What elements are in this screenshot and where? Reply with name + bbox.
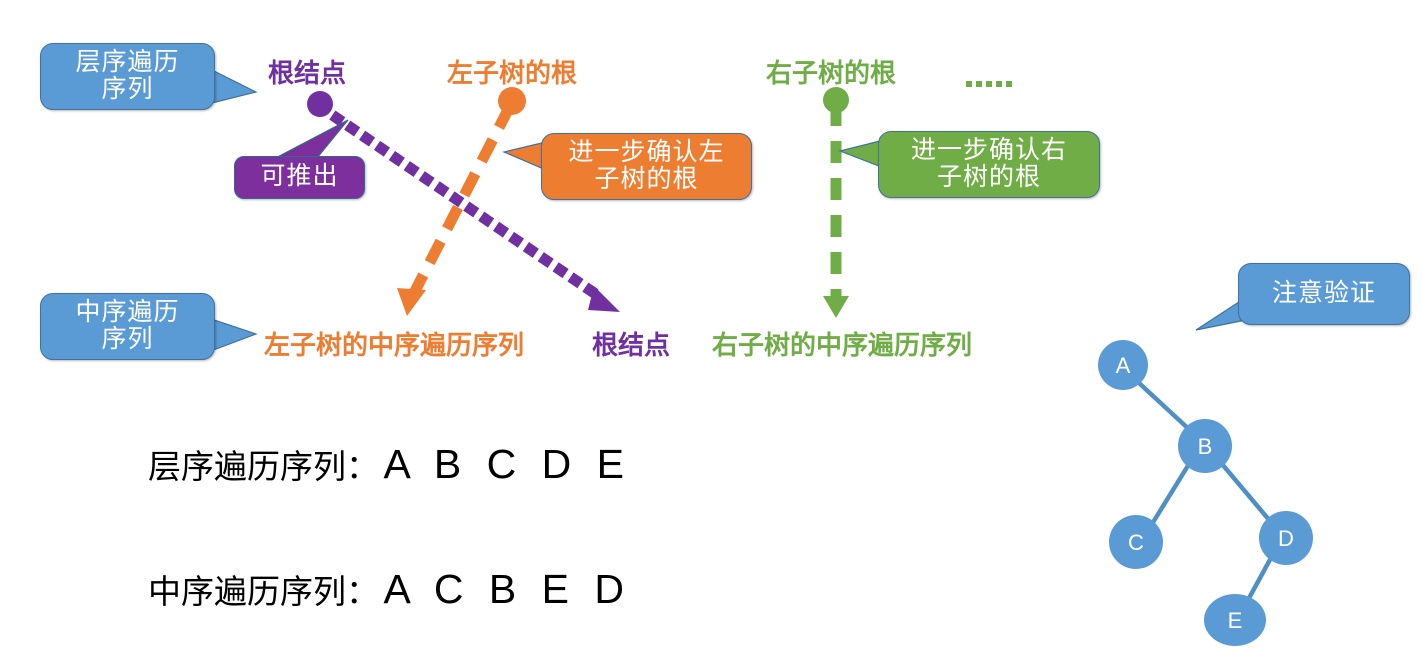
tree-edge-b-c bbox=[1152, 464, 1189, 524]
callout-verify: 注意验证 bbox=[1238, 263, 1410, 325]
tree-edge-a-b bbox=[1138, 382, 1192, 432]
sequence-prefix-level-order: 层序遍历序列： bbox=[148, 450, 379, 486]
diagram-canvas: 层序遍历 序列 中序遍历 序列 可推出 进一步确认左 子树的根 进一步确认右 子… bbox=[0, 0, 1422, 662]
sequence-line-inorder: 中序遍历序列： A C B E D bbox=[148, 565, 631, 613]
sequence-prefix-inorder: 中序遍历序列： bbox=[148, 575, 379, 611]
callout-level-order-line1: 层序遍历 bbox=[75, 50, 179, 77]
callout-deducible-line1: 可推出 bbox=[260, 164, 338, 191]
ellipsis-dots-icon bbox=[966, 81, 1012, 87]
label-right-subtree-root: 右子树的根 bbox=[766, 53, 896, 90]
purple-dotted-arrow bbox=[307, 91, 620, 312]
callout-confirm-left-line2: 子树的根 bbox=[594, 167, 698, 194]
sequence-letters-level-order: A B C D E bbox=[383, 441, 631, 487]
bubble-tail-inorder bbox=[208, 318, 256, 352]
tree-edge-d-e bbox=[1248, 556, 1272, 600]
callout-inorder-line2: 序列 bbox=[101, 327, 153, 354]
bubble-tail-confirm-left bbox=[504, 142, 546, 170]
callout-inorder-label: 中序遍历 序列 bbox=[40, 293, 215, 360]
tree-edges bbox=[1138, 382, 1272, 600]
tree-edge-b-d bbox=[1222, 464, 1270, 521]
callout-confirm-right: 进一步确认右 子树的根 bbox=[878, 131, 1100, 198]
tree-node-b bbox=[1178, 419, 1232, 473]
label-left-subtree-root: 左子树的根 bbox=[447, 53, 577, 90]
label-right-inorder-seq: 右子树的中序遍历序列 bbox=[712, 325, 972, 362]
sequence-letters-inorder: A C B E D bbox=[383, 566, 631, 612]
sequence-line-level-order: 层序遍历序列： A B C D E bbox=[148, 440, 631, 488]
tree-nodes bbox=[1098, 340, 1313, 646]
callout-confirm-left-line1: 进一步确认左 bbox=[568, 140, 724, 167]
callout-confirm-right-line2: 子树的根 bbox=[937, 165, 1041, 192]
callout-level-order-line2: 序列 bbox=[101, 77, 153, 104]
tree-node-d bbox=[1259, 511, 1313, 565]
green-dashed-arrow bbox=[823, 87, 849, 318]
tree-node-a bbox=[1098, 340, 1148, 390]
tree-node-c bbox=[1109, 515, 1163, 569]
label-root-mid: 根结点 bbox=[592, 325, 670, 362]
bubble-tail-level-order bbox=[208, 68, 256, 104]
callout-deducible: 可推出 bbox=[234, 156, 365, 199]
callout-verify-line1: 注意验证 bbox=[1272, 281, 1376, 308]
label-root-top: 根结点 bbox=[268, 53, 346, 90]
tree-node-e bbox=[1204, 594, 1266, 646]
callout-level-order-label: 层序遍历 序列 bbox=[40, 43, 215, 110]
callout-inorder-line1: 中序遍历 bbox=[75, 300, 179, 327]
label-left-inorder-seq: 左子树的中序遍历序列 bbox=[264, 325, 524, 362]
callout-confirm-left: 进一步确认左 子树的根 bbox=[541, 133, 752, 200]
callout-confirm-right-line1: 进一步确认右 bbox=[911, 138, 1067, 165]
